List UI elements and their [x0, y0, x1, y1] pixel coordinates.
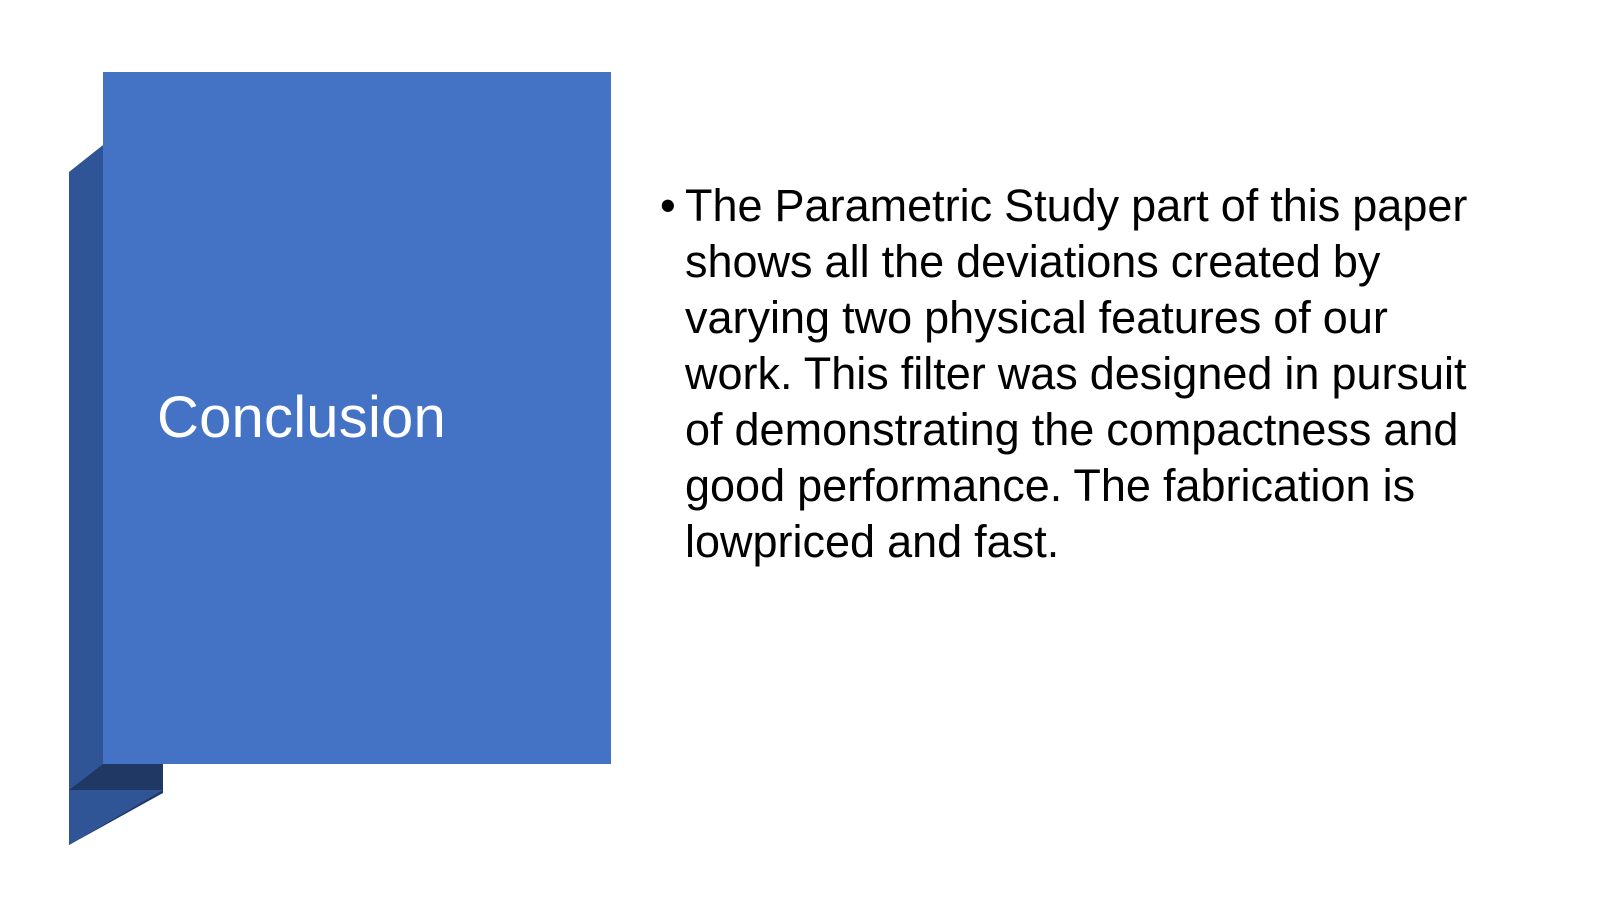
content-placeholder: • The Parametric Study part of this pape…: [652, 178, 1492, 570]
ribbon-fold-shadow: [69, 764, 163, 845]
slide-canvas: Conclusion • The Parametric Study part o…: [0, 0, 1600, 900]
bullet-list: • The Parametric Study part of this pape…: [652, 178, 1492, 570]
list-item-text: The Parametric Study part of this paper …: [685, 180, 1467, 567]
list-item: • The Parametric Study part of this pape…: [652, 178, 1492, 570]
ribbon-tail: [69, 790, 163, 845]
page-title: Conclusion: [112, 386, 446, 450]
title-placeholder: Conclusion: [112, 72, 612, 764]
ribbon-side-panel: [69, 145, 103, 845]
bullet-point-icon: •: [660, 178, 676, 234]
ribbon-fold-triangle: [103, 764, 163, 790]
